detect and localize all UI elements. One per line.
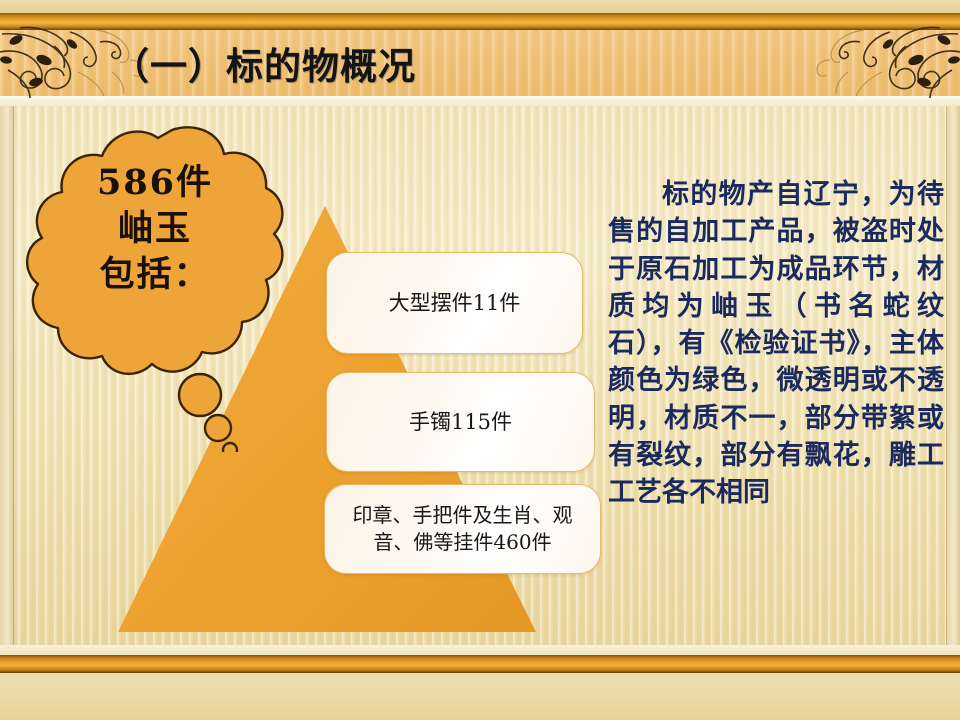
- bottom-gold-bar: [0, 655, 960, 673]
- bottom-strip: [0, 673, 960, 720]
- pyramid-level-box-top[interactable]: 大型摆件11件: [326, 252, 583, 354]
- pyramid-level-box-bottom[interactable]: 印章、手把件及生肖、观音、佛等挂件460件: [324, 484, 601, 574]
- cloud-line-2: 岫玉: [50, 206, 260, 252]
- cloud-line-3: 包括：: [50, 252, 260, 298]
- thought-cloud-callout: 586件 岫玉 包括：: [22, 112, 292, 452]
- pyramid-level-label: 印章、手把件及生肖、观音、佛等挂件460件: [333, 502, 592, 556]
- page-title: （一）标的物概况: [112, 36, 416, 90]
- floral-flourish-icon: [810, 26, 960, 100]
- pyramid-level-box-middle[interactable]: 手镯115件: [326, 372, 595, 472]
- right-border-band: [946, 0, 960, 720]
- pyramid-level-label: 大型摆件11件: [389, 289, 521, 317]
- pyramid-level-label: 手镯115件: [409, 408, 512, 436]
- left-border-band: [0, 0, 14, 720]
- cloud-line-1: 586件: [50, 160, 260, 206]
- slide-canvas: （一）标的物概况 586件 岫玉 包括： 大型摆件: [0, 0, 960, 720]
- bottom-highlight-strip: [0, 645, 960, 655]
- top-strip: [0, 0, 960, 13]
- description-paragraph: 标的物产自辽宁，为待售的自加工产品，被盗时处于原石加工为成品环节，材质均为岫玉（…: [608, 176, 944, 511]
- cloud-text-block: 586件 岫玉 包括：: [50, 160, 260, 299]
